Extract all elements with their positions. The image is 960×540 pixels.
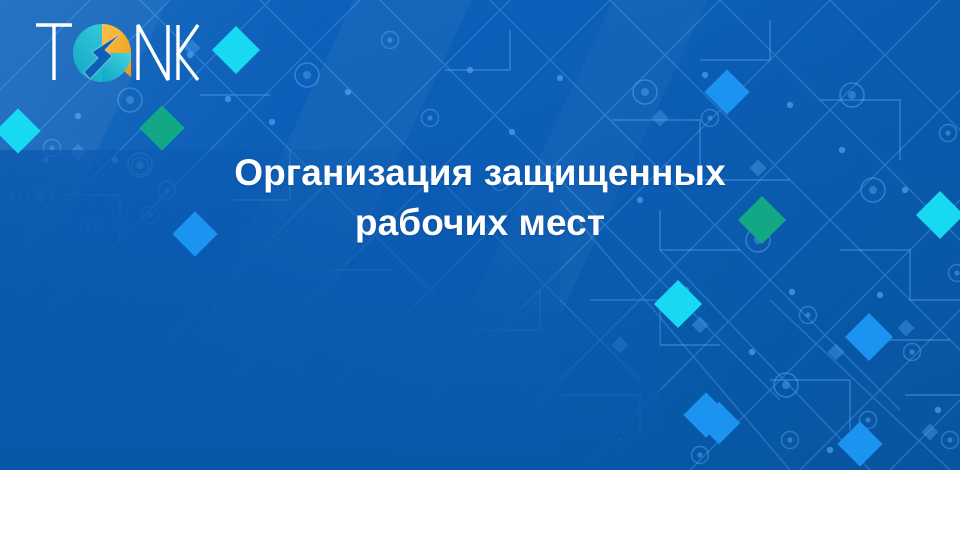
logo-letter-t xyxy=(36,25,72,80)
accent-diamond xyxy=(654,280,702,328)
accent-diamond xyxy=(916,191,960,239)
pattern-fade-bottom xyxy=(0,280,660,470)
accent-diamond xyxy=(139,105,184,150)
logo-o-mark xyxy=(73,24,131,82)
accent-diamond xyxy=(837,421,882,466)
presentation-slide: Организация защищенных рабочих мест xyxy=(0,0,960,540)
page-title: Организация защищенных рабочих мест xyxy=(150,148,810,249)
accent-diamond xyxy=(698,402,740,444)
slide-banner: Организация защищенных рабочих мест xyxy=(0,0,960,470)
logo-letter-k xyxy=(178,25,198,80)
accent-diamond xyxy=(212,26,260,74)
slide-footer-area xyxy=(0,470,960,540)
accent-diamond xyxy=(683,392,728,437)
accent-diamond xyxy=(0,108,41,153)
accent-diamond xyxy=(704,69,749,114)
tonk-logo[interactable] xyxy=(32,17,200,85)
accent-diamond xyxy=(845,313,893,361)
logo-letter-n xyxy=(138,25,168,80)
